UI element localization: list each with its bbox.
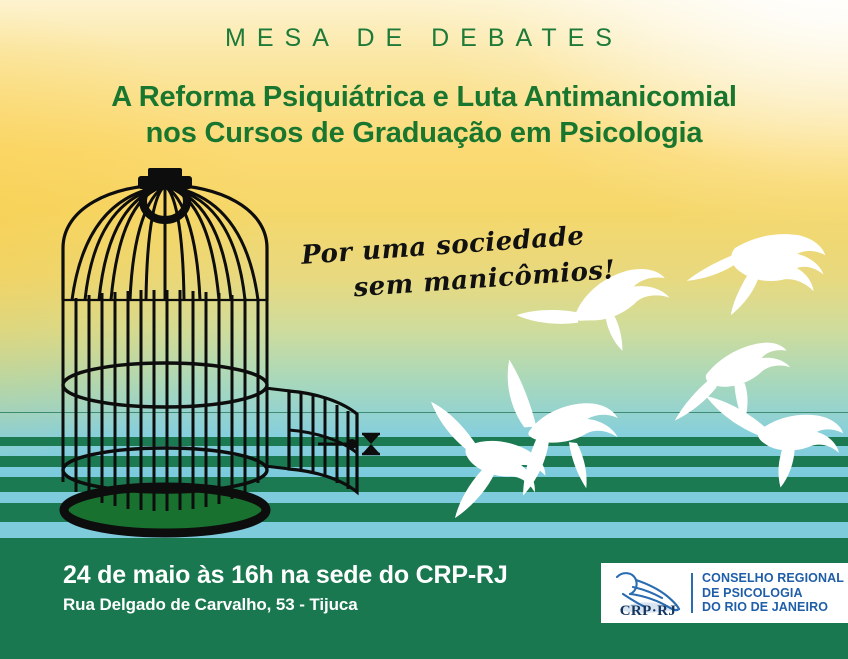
logo-line-1: CONSELHO REGIONAL [702,571,844,586]
logo-wordmark: CONSELHO REGIONAL DE PSICOLOGIA DO RIO D… [702,571,844,615]
crp-rj-logo[interactable]: CRP·RJ CONSELHO REGIONAL DE PSICOLOGIA D… [601,563,848,623]
cage-door-hinge [265,388,290,469]
event-details: 24 de maio às 16h na sede do CRP-RJ Rua … [63,560,508,617]
logo-divider [691,573,693,613]
crp-acronym: CRP·RJ [612,603,684,620]
event-address: Rua Delgado de Carvalho, 53 - Tijuca [63,593,508,617]
title-line-2: nos Cursos de Graduação em Psicologia [0,115,848,151]
cage-bars [63,185,267,511]
poster-canvas: MESA DE DEBATES A Reforma Psiquiátrica e… [0,0,848,659]
kicker-text: MESA DE DEBATES [0,24,848,53]
title-line-1: A Reforma Psiquiátrica e Luta Antimanico… [111,81,737,113]
cage-cap [138,176,192,189]
logo-line-3: DO RIO DE JANEIRO [702,600,844,615]
latch-bowtie-icon [362,434,380,454]
logo-line-2: DE PSICOLOGIA [702,586,844,601]
page-title: A Reforma Psiquiátrica e Luta Antimanico… [0,79,848,151]
cage-door [289,391,357,492]
crp-bird-wave-icon: CRP·RJ [609,567,687,619]
event-date-time: 24 de maio às 16h na sede do CRP-RJ [63,560,508,590]
